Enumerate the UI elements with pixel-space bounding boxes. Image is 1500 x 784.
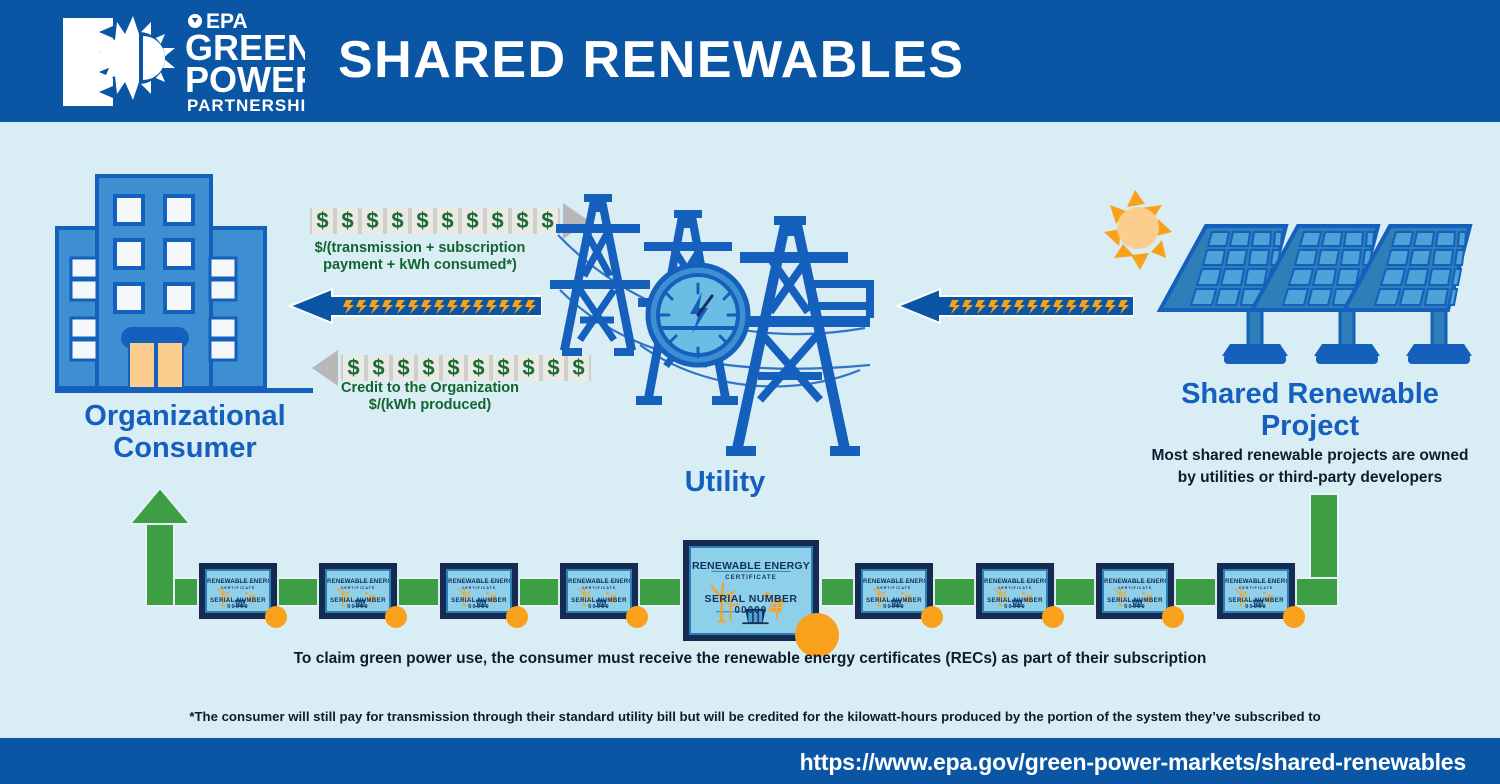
certificate-subtitle: CERTIFICATE [327, 586, 389, 590]
sun-seal-icon [921, 606, 943, 628]
svg-text:POWER: POWER [185, 59, 305, 100]
certificate-serial-value: 00000 [568, 604, 630, 610]
certificate-serial-value: 00000 [327, 604, 389, 610]
project-label: Shared Renewable Project [1130, 378, 1490, 443]
page-title: SHARED RENEWABLES [338, 30, 964, 90]
certificate-title: RENEWABLE ENERGY [984, 578, 1046, 585]
credit-label-line1: Credit to the Organization [310, 380, 550, 397]
certificate-serial-label: SERIAL NUMBER [1104, 597, 1166, 604]
dollar-bill-icon: $ [466, 355, 491, 381]
dollar-bill-icon: $ [410, 208, 435, 234]
dollar-bill-icon: $ [310, 208, 335, 234]
certificate-serial-label: SERIAL NUMBER [1225, 597, 1287, 604]
certificate-subtitle: CERTIFICATE [691, 574, 811, 581]
epa-url-link[interactable]: https://www.epa.gov/green-power-markets/… [800, 749, 1466, 776]
sun-seal-icon [265, 606, 287, 628]
dollar-bill-icon: $ [360, 208, 385, 234]
certificate-subtitle: CERTIFICATE [863, 586, 925, 590]
dollar-bill-icon: $ [366, 355, 391, 381]
office-building-icon [55, 170, 315, 395]
footnote-text: *The consumer will still pay for transmi… [189, 709, 1320, 724]
certificate-title: RENEWABLE ENERGY [691, 560, 811, 572]
certificate-title: RENEWABLE ENERGY [863, 578, 925, 585]
project-label-line2: Project [1130, 410, 1490, 442]
certificate-subtitle: CERTIFICATE [984, 586, 1046, 590]
rec-note: To claim green power use, the consumer m… [100, 650, 1400, 668]
certificate-serial-label: SERIAL NUMBER [568, 597, 630, 604]
dollar-bill-icon: $ [441, 355, 466, 381]
certificate-subtitle: CERTIFICATE [568, 586, 630, 590]
certificate-serial-label: SERIAL NUMBER [863, 597, 925, 604]
dollar-bill-icon: $ [391, 355, 416, 381]
dollar-bill-icon: $ [460, 208, 485, 234]
sun-seal-icon [626, 606, 648, 628]
certificate-subtitle: CERTIFICATE [1225, 586, 1287, 590]
footnote: *The consumer will still pay for transmi… [40, 709, 1470, 724]
svg-text:PARTNERSHIP: PARTNERSHIP [187, 96, 305, 115]
payment-label-line1: $/(transmission + subscription [300, 240, 540, 257]
certificate-serial-label: SERIAL NUMBER [691, 593, 811, 605]
certificate-subtitle: CERTIFICATE [207, 586, 269, 590]
consumer-label-line1: Organizational [55, 400, 315, 432]
infographic-canvas: EPA GREEN POWER PARTNERSHIP SHARED RENEW… [0, 0, 1500, 784]
certificate-serial-value: 00000 [863, 604, 925, 610]
dollar-bill-icon: $ [416, 355, 441, 381]
certificate-body: RENEWABLE ENERGYCERTIFICATESERIAL NUMBER… [446, 569, 512, 613]
certificate-serial-value: 00000 [691, 605, 811, 616]
project-caption-line1: Most shared renewable projects are owned [1130, 445, 1490, 467]
certificate-serial-value: 00000 [207, 604, 269, 610]
project-caption-line2: by utilities or third-party developers [1130, 467, 1490, 489]
dollar-bill-icon: $ [335, 208, 360, 234]
sun-seal-icon [1283, 606, 1305, 628]
certificate-serial-value: 00000 [984, 604, 1046, 610]
certificate-body: RENEWABLE ENERGYCERTIFICATESERIAL NUMBER… [205, 569, 271, 613]
certificate-title: RENEWABLE ENERGY [1225, 578, 1287, 585]
certificate-serial-label: SERIAL NUMBER [984, 597, 1046, 604]
dollar-bill-icon: $ [510, 208, 535, 234]
rec-note-text: To claim green power use, the consumer m… [294, 650, 1207, 667]
sun-seal-icon [506, 606, 528, 628]
certificate-body: RENEWABLE ENERGYCERTIFICATESERIAL NUMBER… [689, 546, 813, 635]
electricity-arrow-to-consumer-icon [288, 288, 542, 324]
certificate-serial-label: SERIAL NUMBER [448, 597, 510, 604]
certificate-body: RENEWABLE ENERGYCERTIFICATESERIAL NUMBER… [861, 569, 927, 613]
consumer-label: Organizational Consumer [55, 400, 315, 465]
dollar-bill-icon: $ [385, 208, 410, 234]
certificate-title: RENEWABLE ENERGY [327, 578, 389, 585]
project-caption: Most shared renewable projects are owned… [1130, 445, 1490, 489]
certificate-body: RENEWABLE ENERGYCERTIFICATESERIAL NUMBER… [1102, 569, 1168, 613]
credit-label-line2: $/(kWh produced) [310, 397, 550, 414]
dollar-bill-icon: $ [341, 355, 366, 381]
certificate-title: RENEWABLE ENERGY [568, 578, 630, 585]
certificate-body: RENEWABLE ENERGYCERTIFICATESERIAL NUMBER… [566, 569, 632, 613]
transmission-towers-icon [540, 180, 920, 470]
certificate-serial-value: 00000 [448, 604, 510, 610]
dollar-bill-icon: $ [435, 208, 460, 234]
certificate-body: RENEWABLE ENERGYCERTIFICATESERIAL NUMBER… [325, 569, 391, 613]
dollar-bill-icon: $ [516, 355, 541, 381]
payment-label-line2: payment + kWh consumed*) [300, 257, 540, 274]
header-bar: EPA GREEN POWER PARTNERSHIP SHARED RENEW… [0, 0, 1500, 122]
sun-seal-icon [1042, 606, 1064, 628]
certificate-body: RENEWABLE ENERGYCERTIFICATESERIAL NUMBER… [1223, 569, 1289, 613]
certificate-serial-label: SERIAL NUMBER [207, 597, 269, 604]
project-label-line1: Shared Renewable [1130, 378, 1490, 410]
solar-panel-array-icon [1090, 180, 1500, 370]
certificate-subtitle: CERTIFICATE [448, 586, 510, 590]
certificate-subtitle: CERTIFICATE [1104, 586, 1166, 590]
dollar-bill-icon: $ [485, 208, 510, 234]
certificate-serial-value: 00000 [1104, 604, 1166, 610]
epa-green-power-partnership-logo: EPA GREEN POWER PARTNERSHIP [55, 8, 305, 116]
certificate-title: RENEWABLE ENERGY [448, 578, 510, 585]
consumer-label-line2: Consumer [55, 432, 315, 464]
certificate-body: RENEWABLE ENERGYCERTIFICATESERIAL NUMBER… [982, 569, 1048, 613]
certificate-title: RENEWABLE ENERGY [1104, 578, 1166, 585]
certificate-title: RENEWABLE ENERGY [207, 578, 269, 585]
sun-seal-icon [1162, 606, 1184, 628]
credit-flow-label: Credit to the Organization $/(kWh produc… [310, 380, 550, 414]
certificate-serial-label: SERIAL NUMBER [327, 597, 389, 604]
sun-seal-icon [385, 606, 407, 628]
certificate-serial-value: 00000 [1225, 604, 1287, 610]
payment-flow-label: $/(transmission + subscription payment +… [300, 240, 540, 274]
dollar-bill-icon: $ [491, 355, 516, 381]
